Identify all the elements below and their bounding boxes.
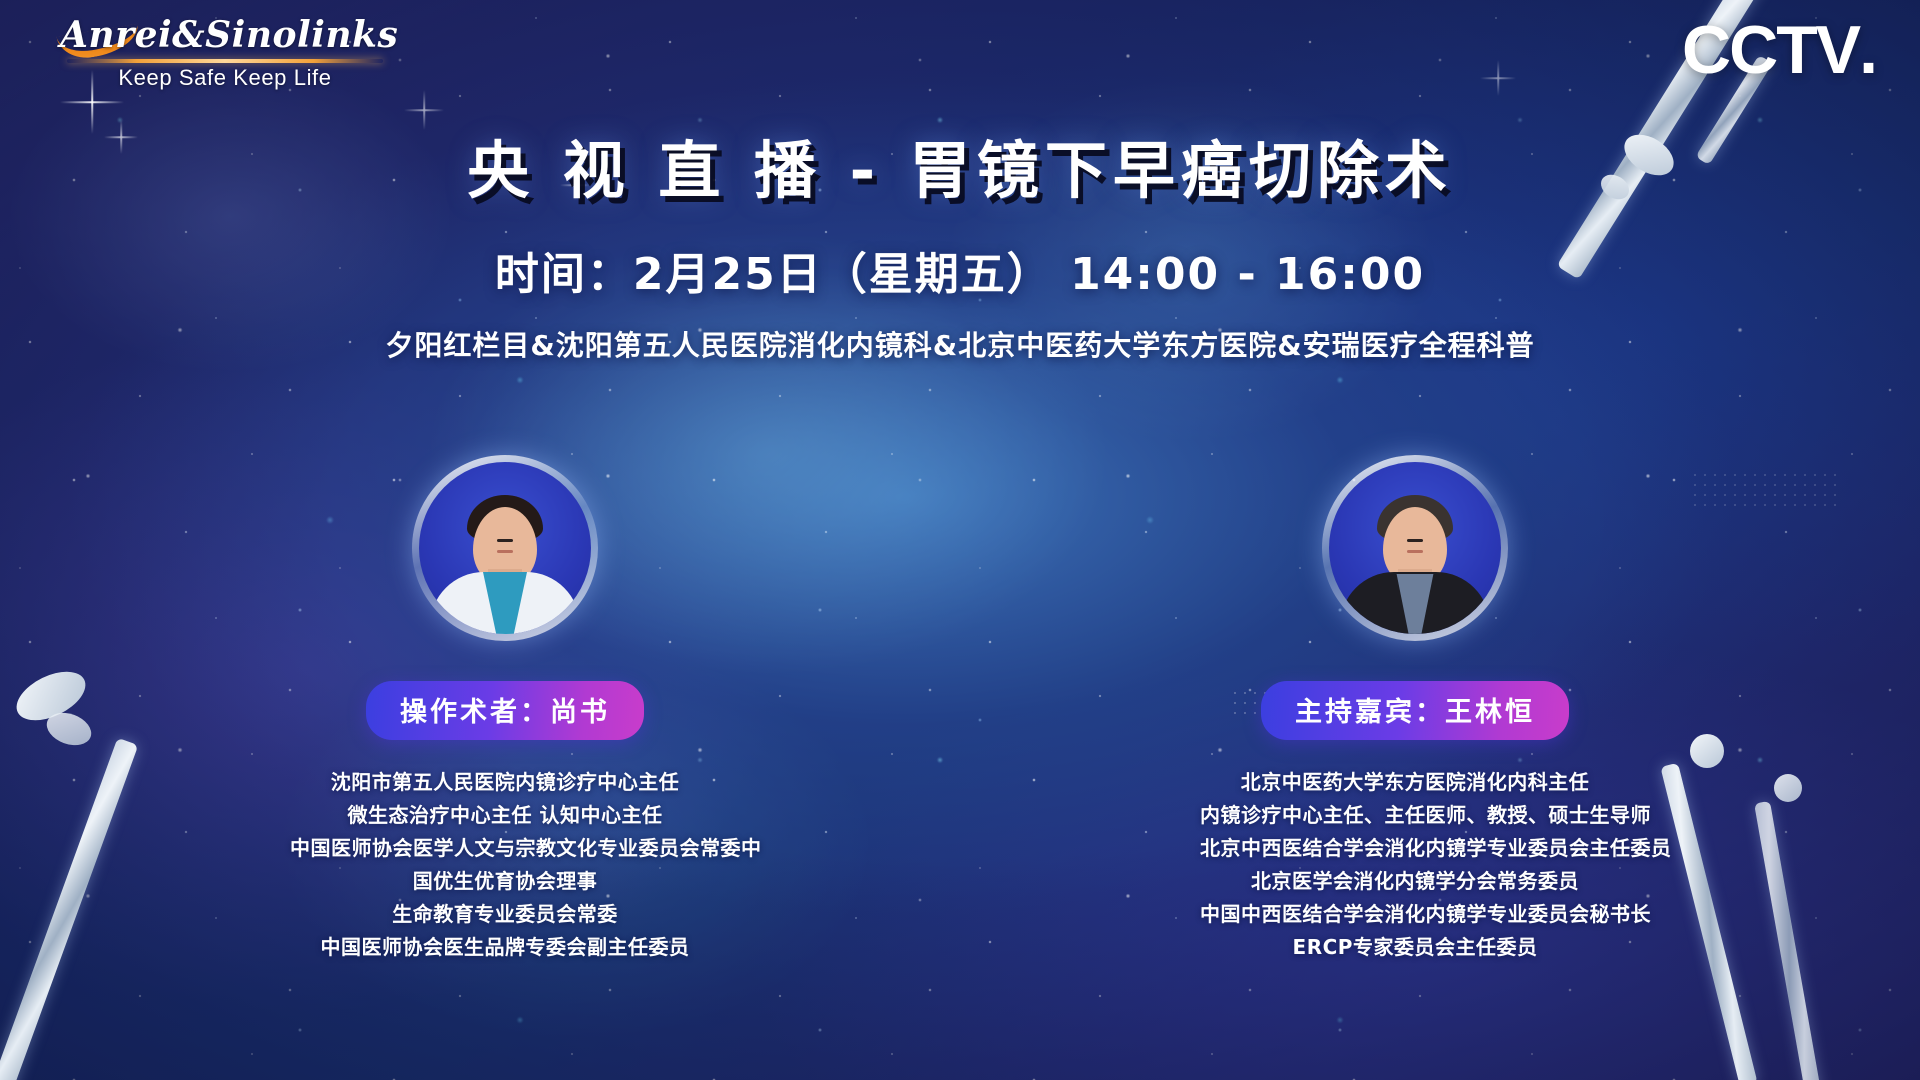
bio-line: 北京中西医结合学会消化内镜学专业委员会主任委员 xyxy=(1200,832,1630,865)
speaker-role-badge: 操作术者：尚书 xyxy=(366,681,644,740)
avatar xyxy=(1329,462,1501,634)
speaker-role-badge: 主持嘉宾：王林恒 xyxy=(1261,681,1569,740)
bio-line: 国优生优育协会理事 xyxy=(290,865,720,898)
event-organizers: 夕阳红栏目&沈阳第五人民医院消化内镜科&北京中医药大学东方医院&安瑞医疗全程科普 xyxy=(0,324,1920,364)
bio-line: 北京中医药大学东方医院消化内科主任 xyxy=(1200,766,1630,799)
speakers-section: 操作术者：尚书 沈阳市第五人民医院内镜诊疗中心主任 微生态治疗中心主任 认知中心… xyxy=(0,455,1920,964)
speaker-bio-list: 北京中医药大学东方医院消化内科主任 内镜诊疗中心主任、主任医师、教授、硕士生导师… xyxy=(1200,766,1630,964)
brand-logo-wordmark: Anrei&Sinolinks xyxy=(60,14,390,56)
bio-line: 中国中西医结合学会消化内镜学专业委员会秘书长 xyxy=(1200,898,1630,931)
avatar-ring xyxy=(1322,455,1508,641)
speaker-card-operator: 操作术者：尚书 沈阳市第五人民医院内镜诊疗中心主任 微生态治疗中心主任 认知中心… xyxy=(290,455,720,964)
speaker-bio-list: 沈阳市第五人民医院内镜诊疗中心主任 微生态治疗中心主任 认知中心主任 中国医师协… xyxy=(290,766,720,964)
cctv-logo-text: CCTV xyxy=(1682,12,1859,88)
bio-line: 北京医学会消化内镜学分会常务委员 xyxy=(1200,865,1630,898)
portrait-body-dark-jacket xyxy=(1340,572,1490,634)
bio-line: 中国医师协会医生品牌专委会副主任委员 xyxy=(290,931,720,964)
speaker-card-host: 主持嘉宾：王林恒 北京中医药大学东方医院消化内科主任 内镜诊疗中心主任、主任医师… xyxy=(1200,455,1630,964)
cctv-logo-dot: . xyxy=(1859,12,1878,88)
bio-line: 生命教育专业委员会常委 xyxy=(290,898,720,931)
bio-line: 沈阳市第五人民医院内镜诊疗中心主任 xyxy=(290,766,720,799)
page-title: 央 视 直 播 - 胃镜下早癌切除术 xyxy=(0,120,1920,210)
bio-line: 中国医师协会医学人文与宗教文化专业委员会常委中 xyxy=(290,832,720,865)
bio-line: ERCP专家委员会主任委员 xyxy=(1200,931,1630,964)
cctv-logo: CCTV. xyxy=(1682,16,1878,84)
avatar-ring xyxy=(412,455,598,641)
portrait-mouth xyxy=(1407,550,1423,553)
bio-line: 微生态治疗中心主任 认知中心主任 xyxy=(290,799,720,832)
brand-logo-divider xyxy=(67,59,383,63)
portrait-body-white-coat xyxy=(430,572,580,634)
event-time: 时间：2月25日（星期五） 14:00 - 16:00 xyxy=(0,238,1920,302)
brand-tagline: Keep Safe Keep Life xyxy=(60,65,390,91)
portrait-eye-right xyxy=(1414,539,1423,542)
bio-line: 内镜诊疗中心主任、主任医师、教授、硕士生导师 xyxy=(1200,799,1630,832)
poster-canvas: Anrei&Sinolinks Keep Safe Keep Life CCTV… xyxy=(0,0,1920,1080)
portrait-eye-right xyxy=(504,539,513,542)
brand-logo-text: Anrei&Sinolinks xyxy=(60,14,398,56)
avatar xyxy=(419,462,591,634)
headline-block: 央 视 直 播 - 胃镜下早癌切除术 时间：2月25日（星期五） 14:00 -… xyxy=(0,120,1920,364)
brand-logo-anrei-sinolinks: Anrei&Sinolinks Keep Safe Keep Life xyxy=(60,14,390,91)
portrait-mouth xyxy=(497,550,513,553)
